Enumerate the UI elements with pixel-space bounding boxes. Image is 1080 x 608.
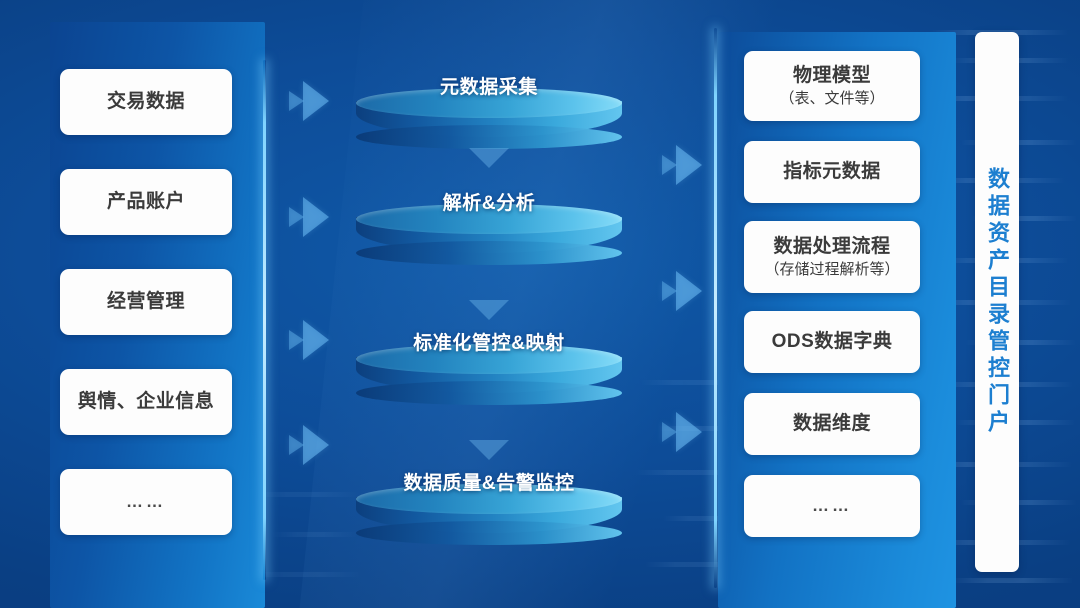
output-label: 物理模型 [793,64,871,87]
output-label: 指标元数据 [783,160,881,183]
pipeline-stage[interactable]: 元数据采集 [356,88,622,150]
flow-arrow-right-icon [303,197,329,237]
pipeline-stage-label: 元数据采集 [356,72,622,99]
list-item[interactable]: 数据处理流程 （存储过程解析等） [744,221,920,293]
list-item[interactable]: 物理模型 （表、文件等） [744,51,920,121]
flow-arrow-right-icon [676,145,702,185]
output-sublabel: （表、文件等） [779,90,884,108]
flow-arrow-right-icon [303,81,329,121]
cylinder-bottom-rim [356,521,622,545]
portal-title: 数据资产目录管控门户 [981,167,1013,437]
column-divider-left [263,60,266,580]
pipeline-stage[interactable]: 解析&分析 [356,204,622,266]
source-label: 产品账户 [107,190,185,213]
diagram-canvas: 交易数据 产品账户 经营管理 舆情、企业信息 …… 元数据采集 解析&分析 标准… [0,0,1080,608]
flow-arrow-down-icon [469,148,509,168]
list-item[interactable]: ODS数据字典 [744,311,920,373]
list-item[interactable]: 指标元数据 [744,141,920,203]
source-label: 经营管理 [107,290,185,313]
flow-arrow-right-icon [303,320,329,360]
list-item[interactable]: …… [60,469,232,535]
output-label-ellipsis: …… [812,496,852,517]
output-label: 数据维度 [793,412,871,435]
pipeline-stage-label: 解析&分析 [356,188,622,215]
list-item[interactable]: 舆情、企业信息 [60,369,232,435]
list-item[interactable]: 数据维度 [744,393,920,455]
source-label: 交易数据 [107,90,185,113]
pipeline-stage[interactable]: 数据质量&告警监控 [356,484,622,546]
flow-arrow-right-icon [303,425,329,465]
cylinder-bottom-rim [356,125,622,149]
flow-arrow-down-icon [469,440,509,460]
pipeline-stage-label: 数据质量&告警监控 [356,468,622,495]
list-item[interactable]: 产品账户 [60,169,232,235]
pipeline-stage-label: 标准化管控&映射 [356,328,622,355]
list-item[interactable]: …… [744,475,920,537]
list-item[interactable]: 经营管理 [60,269,232,335]
output-label: 数据处理流程 [773,235,890,258]
flow-arrow-right-icon [676,412,702,452]
cylinder-bottom-rim [356,381,622,405]
source-label: 舆情、企业信息 [78,390,215,413]
pipeline-stage[interactable]: 标准化管控&映射 [356,344,622,406]
flow-arrow-right-icon [676,271,702,311]
portal-panel[interactable]: 数据资产目录管控门户 [975,32,1019,572]
output-sublabel: （存储过程解析等） [764,261,899,279]
output-label: ODS数据字典 [772,330,893,353]
cylinder-bottom-rim [356,241,622,265]
source-label-ellipsis: …… [126,492,166,513]
list-item[interactable]: 交易数据 [60,69,232,135]
column-divider-right [714,28,717,588]
flow-arrow-down-icon [469,300,509,320]
